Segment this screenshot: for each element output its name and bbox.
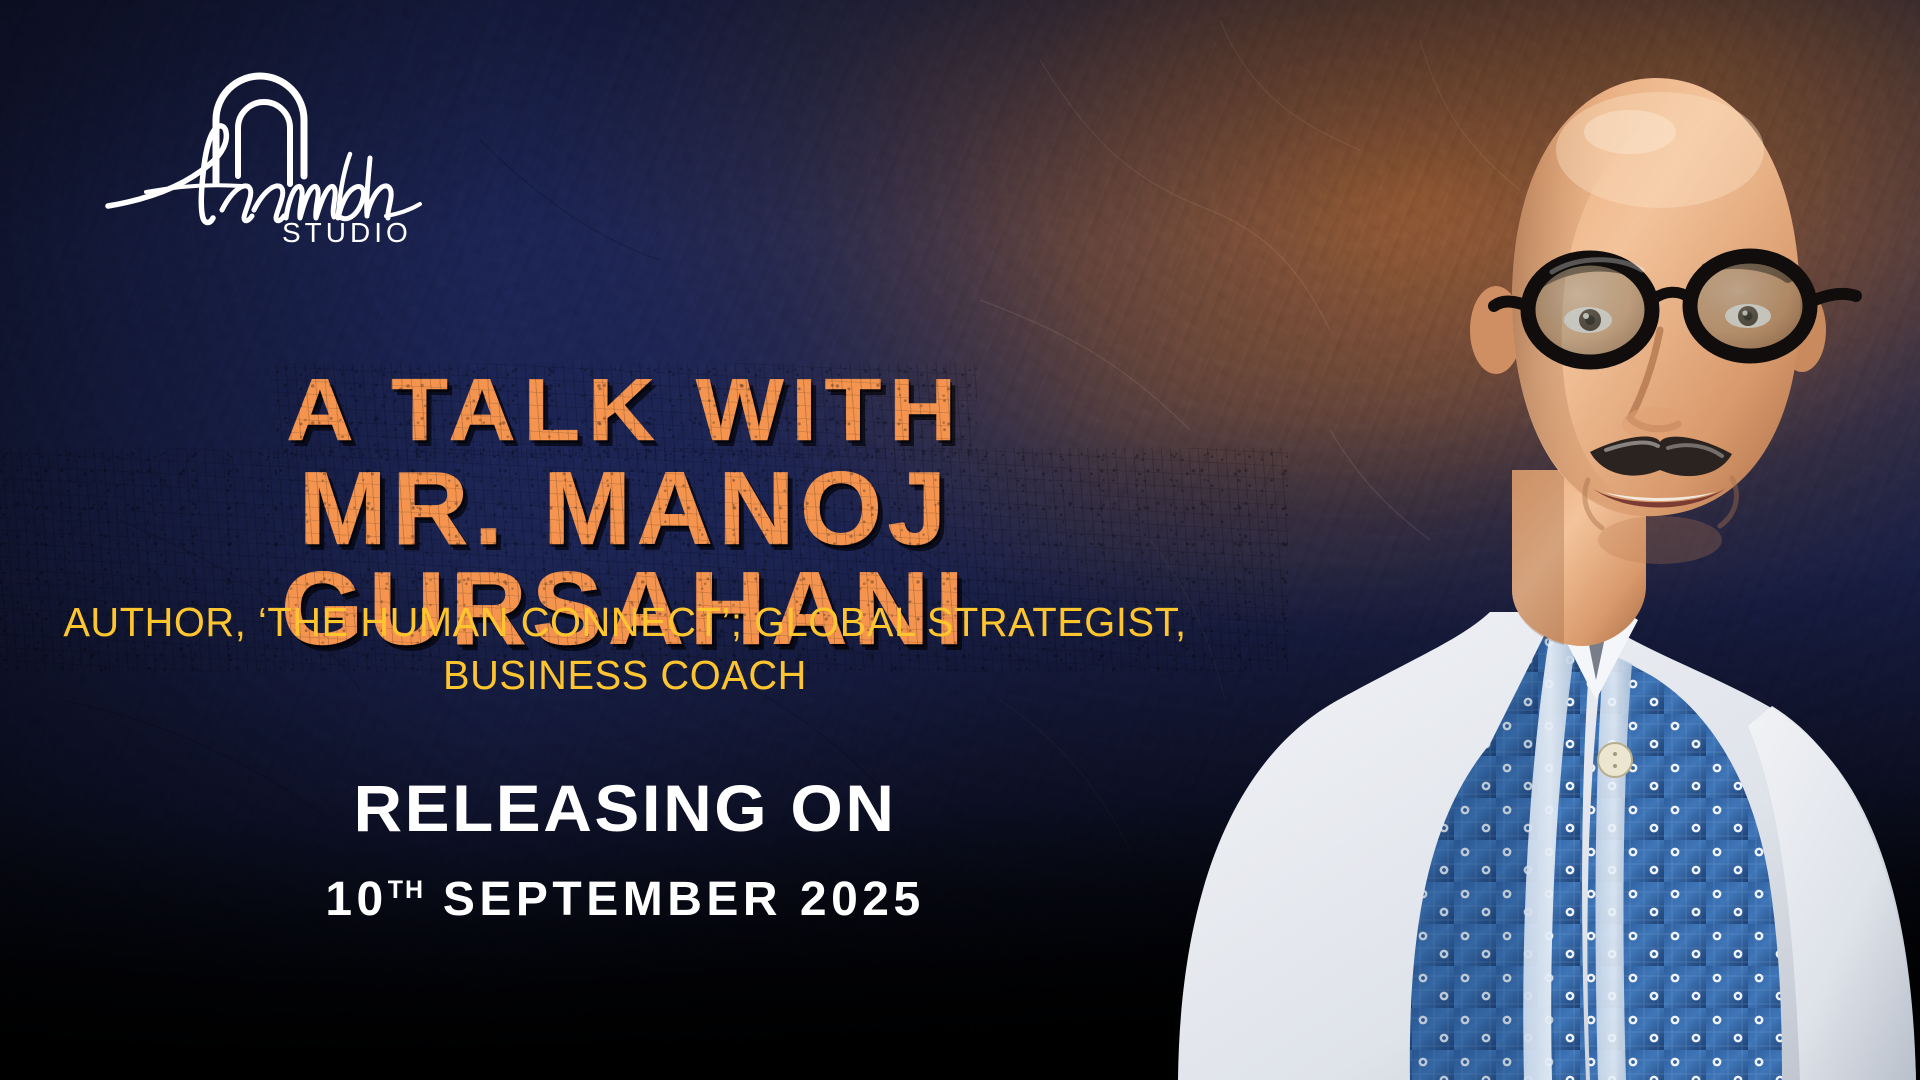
double-arch-icon bbox=[216, 76, 304, 184]
release-month: SEPTEMBER bbox=[443, 873, 782, 926]
releasing-label: RELEASING ON bbox=[0, 770, 1263, 846]
release-date: 10TH SEPTEMBER 2025 bbox=[0, 872, 1250, 927]
promo-poster: STUDIO A TALK WITH MR. MANOJ GURSAHANI A… bbox=[0, 0, 1920, 1080]
subtitle-line-1: AUTHOR, ‘THE HUMAN CONNECT’; GLOBAL STRA… bbox=[19, 596, 1232, 649]
release-day: 10 bbox=[325, 873, 387, 926]
speaker-torso bbox=[1178, 596, 1916, 1080]
subtitle-line-2: BUSINESS COACH bbox=[19, 649, 1232, 702]
subtitle-block: AUTHOR, ‘THE HUMAN CONNECT’; GLOBAL STRA… bbox=[19, 596, 1232, 703]
speaker-portrait bbox=[1160, 0, 1920, 1080]
logo-script-aarambh bbox=[108, 126, 420, 223]
headline-line-1-text: A TALK WITH bbox=[286, 368, 963, 452]
brand-logo[interactable]: STUDIO bbox=[86, 58, 466, 248]
logo-subtext: STUDIO bbox=[282, 217, 412, 248]
release-ordinal: TH bbox=[388, 876, 425, 904]
headline-line-1: A TALK WITH bbox=[0, 368, 1288, 452]
release-year: 2025 bbox=[800, 873, 925, 926]
